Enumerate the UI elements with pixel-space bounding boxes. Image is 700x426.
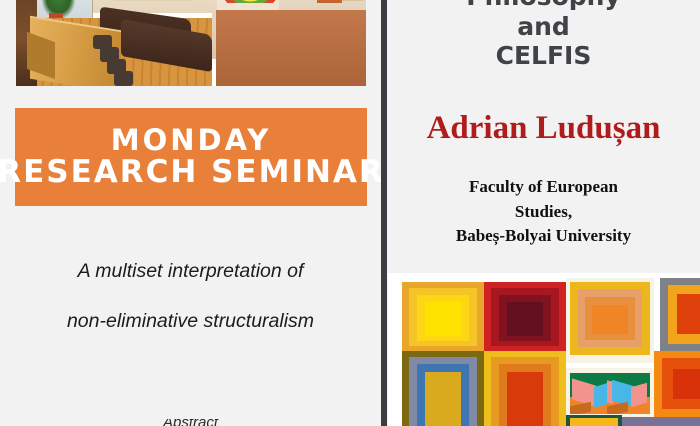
monday-research-seminar-banner: MONDAY RESEARCH SEMINAR [15,108,367,206]
banner-line-1: MONDAY [111,126,272,155]
organiser-line-3: CELFIS [387,41,700,71]
artwork-square-gray-orange [660,278,700,352]
artwork-square-yellow [402,282,484,351]
speaker-name: Adrian Ludușan [387,112,700,145]
artwork-bottom-yellow-square [566,415,622,426]
organiser-heading: Philosophy and CELFIS [387,0,700,71]
seminar-talk-title: A multiset interpretation of non-elimina… [0,262,381,331]
clipped-bottom-text: Abstract [0,419,381,426]
speaker-affiliation: Faculty of European Studies, Babeș-Bolya… [387,175,700,249]
organiser-line-1: Philosophy [387,0,700,12]
photo-canvas [16,0,366,86]
artwork-square-red [484,282,566,351]
albers-artwork-collage [388,273,700,426]
left-column: MONDAY RESEARCH SEMINAR A multiset inter… [0,0,381,426]
artwork-square-orange [654,351,700,417]
affiliation-line-2: Studies, [393,200,694,225]
talk-title-line-1: A multiset interpretation of [18,262,363,282]
affiliation-line-1: Faculty of European [393,175,694,200]
artwork-structural-constellation [566,368,654,420]
banner-line-2: RESEARCH SEMINAR [0,157,385,188]
organiser-line-2: and [387,12,700,42]
right-column: Philosophy and CELFIS Adrian Ludușan Fac… [387,0,700,426]
artwork-square-olive-blue [402,351,484,426]
talk-title-line-2: non-eliminative structuralism [18,312,363,332]
seminar-poster-page: MONDAY RESEARCH SEMINAR A multiset inter… [0,0,700,426]
artwork-square-gold-vermilion [484,351,566,426]
interior-lounge-photo [16,0,366,86]
artwork-framed-orange-study [566,278,654,363]
affiliation-line-3: Babeș-Bolyai University [393,224,694,249]
